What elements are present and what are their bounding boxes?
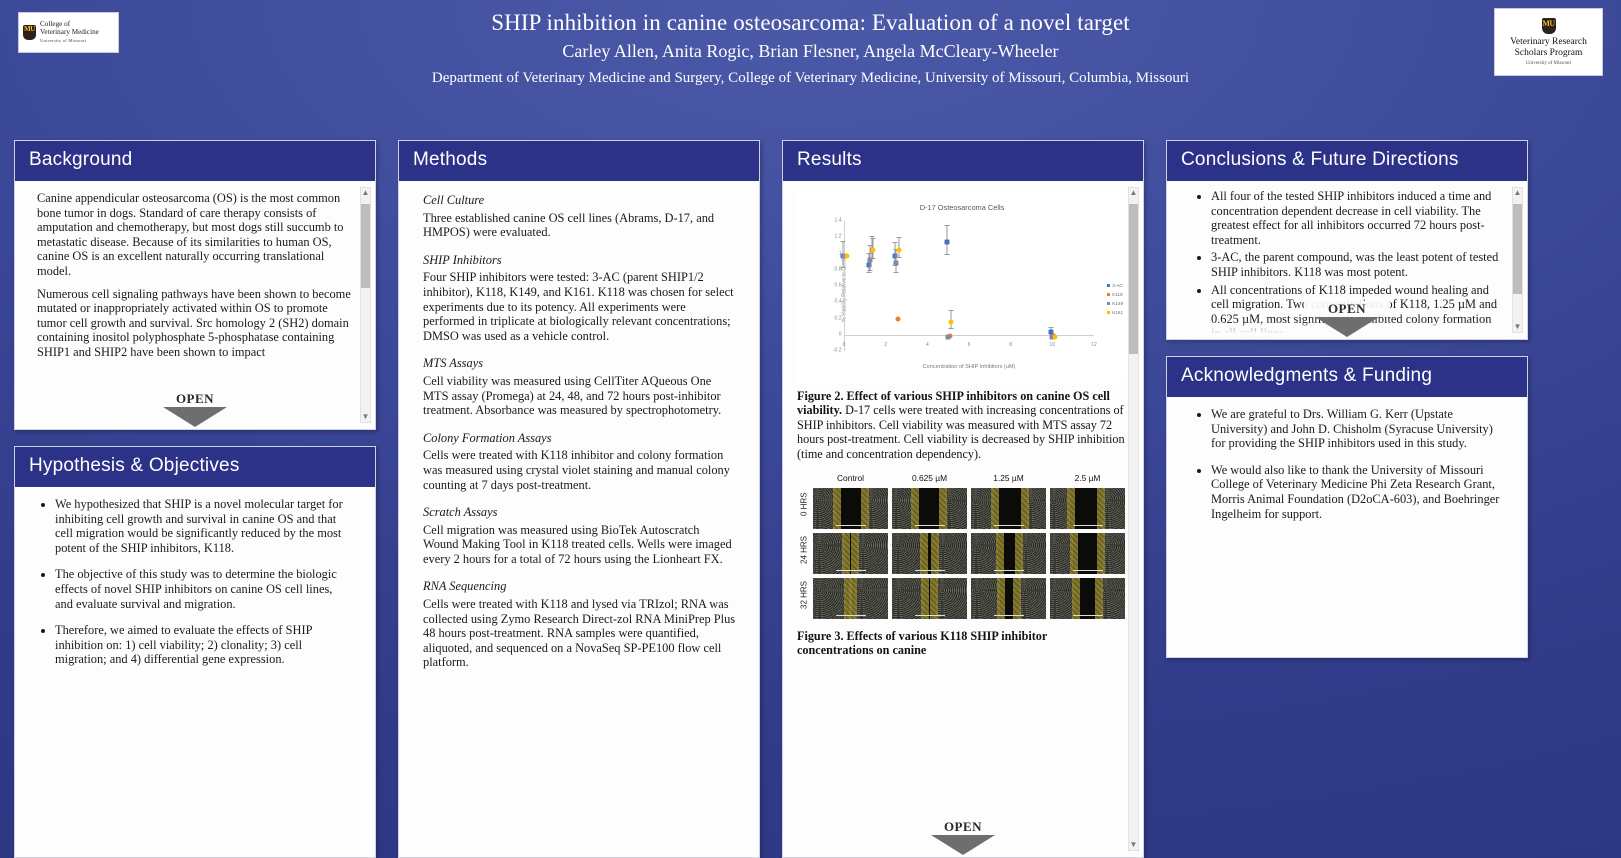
column-results: Results D-17 Osteosarcoma Cells % Viabil… [782, 140, 1144, 858]
panel-hypothesis[interactable]: Hypothesis & Objectives We hypothesized … [14, 446, 376, 858]
legend-swatch [1107, 293, 1110, 296]
triangle-down-icon [931, 835, 995, 855]
panel-conclusions[interactable]: Conclusions & Future Directions All four… [1166, 140, 1528, 340]
chevron-up-icon[interactable]: ▲ [361, 188, 370, 198]
data-point [894, 261, 899, 266]
list-item: 3-AC, the parent compound, was the least… [1211, 250, 1503, 279]
data-point [897, 247, 902, 252]
methods-heading: Colony Formation Assays [423, 431, 737, 446]
legend-label: K149 [1112, 299, 1123, 308]
x-axis-tick: 4 [926, 338, 929, 353]
x-axis-tick: 2 [884, 338, 887, 353]
data-point [1053, 335, 1058, 340]
micrograph [813, 578, 888, 619]
error-bar-cap [868, 270, 873, 271]
data-point [895, 316, 900, 321]
column-methods: Methods Cell Culture Three established c… [398, 140, 760, 858]
hypothesis-bullet-list: We hypothesized that SHIP is a novel mol… [37, 497, 353, 667]
legend-label: K161 [1112, 308, 1123, 317]
x-axis-tick: 10 [1050, 338, 1056, 353]
legend-swatch [1107, 302, 1110, 305]
chart-legend: 3-ACK118K149K161 [1107, 281, 1123, 317]
scrollbar-background[interactable]: ▲ ▼ [360, 187, 371, 423]
veterinary-research-scholars-program-logo: MU Veterinary Research Scholars Program … [1494, 8, 1603, 76]
list-item: We are grateful to Drs. William G. Kerr … [1211, 407, 1503, 451]
methods-body: Cell migration was measured using BioTek… [423, 523, 737, 567]
data-point [944, 240, 949, 245]
triangle-down-icon [163, 407, 227, 427]
y-axis-tick: 1.4 [835, 214, 842, 229]
error-bar-cap [871, 238, 876, 239]
scratch-image-row [813, 533, 1125, 574]
list-item: We would also like to thank the Universi… [1211, 463, 1503, 521]
scrollbar-thumb[interactable] [361, 204, 370, 288]
figure-3-caption: Figure 3. Effects of various K118 SHIP i… [797, 629, 1125, 658]
panel-results[interactable]: Results D-17 Osteosarcoma Cells % Viabil… [782, 140, 1144, 858]
logo-left-line1: College of [40, 20, 99, 29]
legend-entry: K161 [1107, 308, 1123, 317]
open-button-background[interactable]: OPEN [152, 391, 238, 427]
figure-2-caption: Figure 2. Effect of various SHIP inhibit… [797, 389, 1125, 461]
methods-body: Cell viability was measured using CellTi… [423, 374, 737, 418]
poster-header: MU College of Veterinary Medicine Univer… [0, 0, 1621, 104]
legend-label: K118 [1112, 290, 1122, 299]
panel-acknowledgments[interactable]: Acknowledgments & Funding We are gratefu… [1166, 356, 1528, 658]
legend-entry: K149 [1107, 299, 1123, 308]
error-bar-cap [949, 328, 954, 329]
chevron-down-icon[interactable]: ▼ [1513, 322, 1522, 332]
error-bar-cap [840, 267, 845, 268]
micrograph [892, 578, 967, 619]
chart-x-axis-label: Concentration of SHIP Inhibitors (uM) [844, 360, 1094, 375]
open-button-results[interactable]: OPEN [920, 819, 1006, 855]
panel-title-hypothesis: Hypothesis & Objectives [15, 447, 375, 487]
micrograph [1050, 578, 1125, 619]
micrograph [892, 533, 967, 574]
affiliation: Department of Veterinary Medicine and Su… [150, 66, 1471, 90]
legend-swatch [1107, 284, 1110, 287]
micrograph [1050, 533, 1125, 574]
background-paragraph-1: Canine appendicular osteosarcoma (OS) is… [37, 191, 353, 279]
row-label: 0 HRS [797, 484, 813, 525]
y-axis-tick: 0.8 [835, 262, 842, 277]
data-point [845, 254, 850, 259]
panel-body-results: D-17 Osteosarcoma Cells % Viability Rela… [783, 181, 1143, 857]
scratch-image-row [813, 578, 1125, 619]
list-item: The objective of this study was to deter… [55, 567, 353, 611]
panel-body-hypothesis: We hypothesized that SHIP is a novel mol… [15, 487, 375, 857]
methods-heading: RNA Sequencing [423, 579, 737, 594]
panel-title-acknowledgments: Acknowledgments & Funding [1167, 357, 1527, 397]
triangle-down-icon [1315, 317, 1379, 337]
column-header: 2.5 µM [1050, 471, 1125, 486]
error-bar-cap [840, 241, 845, 242]
page-title: SHIP inhibition in canine osteosarcoma: … [150, 8, 1471, 38]
panel-title-methods: Methods [399, 141, 759, 181]
micrograph [971, 488, 1046, 529]
column-left: Background Canine appendicular osteosarc… [14, 140, 376, 858]
figure-2-chart: D-17 Osteosarcoma Cells % Viability Rela… [797, 193, 1127, 383]
panel-title-background: Background [15, 141, 375, 181]
error-bar-cap [894, 272, 899, 273]
y-axis-tick: 1.2 [835, 230, 842, 245]
figure-3-image-grid: 0 HRS 24 HRS 32 HRS Control 0.625 µM 1.2… [797, 471, 1125, 623]
mu-shield-icon: MU [23, 25, 36, 40]
background-paragraph-2: Numerous cell signaling pathways have be… [37, 287, 353, 360]
panel-methods[interactable]: Methods Cell Culture Three established c… [398, 140, 760, 858]
scratch-column-headers: Control 0.625 µM 1.25 µM 2.5 µM [813, 471, 1125, 486]
micrograph [892, 488, 967, 529]
chart-title: D-17 Osteosarcoma Cells [797, 193, 1127, 216]
open-label: OPEN [1304, 301, 1390, 317]
x-axis-tick: 0 [843, 338, 846, 353]
acknowledgments-bullet-list: We are grateful to Drs. William G. Kerr … [1193, 407, 1503, 521]
poster-columns: Background Canine appendicular osteosarc… [0, 140, 1621, 858]
row-label: 24 HRS [797, 529, 813, 570]
y-axis-tick: 0 [839, 327, 842, 342]
panel-title-conclusions: Conclusions & Future Directions [1167, 141, 1527, 181]
methods-heading: Cell Culture [423, 193, 737, 208]
methods-heading: SHIP Inhibitors [423, 253, 737, 268]
legend-entry: 3-AC [1107, 281, 1123, 290]
chevron-up-icon[interactable]: ▲ [1129, 188, 1138, 198]
error-bar-cap [866, 272, 871, 273]
mu-shield-icon: MU [1542, 18, 1556, 34]
scratch-grid: Control 0.625 µM 1.25 µM 2.5 µM [813, 471, 1125, 623]
title-block: SHIP inhibition in canine osteosarcoma: … [150, 8, 1471, 90]
logo-right-sub: University of Missouri [1526, 61, 1572, 66]
chevron-down-icon[interactable]: ▼ [361, 412, 370, 422]
methods-heading: MTS Assays [423, 356, 737, 371]
micrograph [971, 578, 1046, 619]
open-label: OPEN [920, 819, 1006, 835]
legend-swatch [1107, 311, 1110, 314]
scrollbar-conclusions[interactable]: ▲ ▼ [1512, 187, 1523, 333]
x-axis-tick: 6 [968, 338, 971, 353]
data-point [946, 335, 951, 340]
micrograph [813, 488, 888, 529]
scratch-image-row [813, 488, 1125, 529]
micrograph [1050, 488, 1125, 529]
y-axis-tick: 0.2 [835, 311, 842, 326]
y-axis-tick: -0.2 [833, 344, 842, 359]
error-bar-cap [871, 258, 876, 259]
legend-entry: K118 [1107, 290, 1123, 299]
x-axis-tick: 8 [1009, 338, 1012, 353]
chart-plot-area: -0.200.20.40.60.811.21.4024681012 [844, 221, 1094, 351]
micrograph [813, 533, 888, 574]
list-item: Therefore, we aimed to evaluate the effe… [55, 623, 353, 667]
chevron-up-icon[interactable]: ▲ [1513, 188, 1522, 198]
list-item: All four of the tested SHIP inhibitors i… [1211, 189, 1503, 247]
column-right: Conclusions & Future Directions All four… [1166, 140, 1528, 858]
y-axis-tick: 0.4 [835, 295, 842, 310]
logo-right-line2: Scholars Program [1515, 48, 1583, 59]
list-item: We hypothesized that SHIP is a novel mol… [55, 497, 353, 555]
methods-body: Cells were treated with K118 inhibitor a… [423, 448, 737, 492]
panel-title-results: Results [783, 141, 1143, 181]
panel-background[interactable]: Background Canine appendicular osteosarc… [14, 140, 376, 430]
author-list: Carley Allen, Anita Rogic, Brian Flesner… [150, 38, 1471, 64]
scrollbar-thumb[interactable] [1513, 204, 1522, 294]
chevron-down-icon[interactable]: ▼ [1129, 840, 1138, 850]
logo-left-sub: University of Missouri [40, 37, 99, 46]
column-header: 0.625 µM [892, 471, 967, 486]
scratch-row-labels: 0 HRS 24 HRS 32 HRS [797, 471, 813, 623]
methods-body: Three established canine OS cell lines (… [423, 211, 737, 240]
poster-canvas: MU College of Veterinary Medicine Univer… [0, 0, 1621, 858]
error-bar-cap [897, 237, 902, 238]
micrograph [971, 533, 1046, 574]
row-label: 32 HRS [797, 574, 813, 615]
legend-label: 3-AC [1112, 281, 1122, 290]
methods-body: Four SHIP inhibitors were tested: 3-AC (… [423, 270, 737, 343]
data-point [949, 319, 954, 324]
figure-2-caption-rest: D-17 cells were treated with increasing … [797, 403, 1125, 460]
error-bar-cap [892, 242, 897, 243]
logo-left-line2: Veterinary Medicine [40, 28, 99, 37]
scrollbar-thumb[interactable] [1129, 204, 1138, 354]
error-bar-cap [1048, 327, 1053, 328]
methods-heading: Scratch Assays [423, 505, 737, 520]
logo-left-text: College of Veterinary Medicine Universit… [40, 20, 99, 46]
error-bar-cap [944, 254, 949, 255]
panel-body-methods: Cell Culture Three established canine OS… [399, 181, 759, 857]
error-bar-cap [949, 310, 954, 311]
data-point [871, 248, 876, 253]
methods-body: Cells were treated with K118 and lysed v… [423, 597, 737, 670]
column-header: 1.25 µM [971, 471, 1046, 486]
open-label: OPEN [152, 391, 238, 407]
mu-college-of-veterinary-medicine-logo: MU College of Veterinary Medicine Univer… [18, 12, 119, 53]
error-bar-cap [897, 257, 902, 258]
panel-body-acknowledgments: We are grateful to Drs. William G. Kerr … [1167, 397, 1527, 657]
column-header: Control [813, 471, 888, 486]
y-axis-tick: 0.6 [835, 279, 842, 294]
x-axis-tick: 12 [1091, 338, 1097, 353]
error-bar-cap [944, 225, 949, 226]
logo-right-line1: Veterinary Research [1510, 37, 1587, 48]
open-button-conclusions[interactable]: OPEN [1304, 301, 1390, 337]
scrollbar-results[interactable]: ▲ ▼ [1128, 187, 1139, 851]
